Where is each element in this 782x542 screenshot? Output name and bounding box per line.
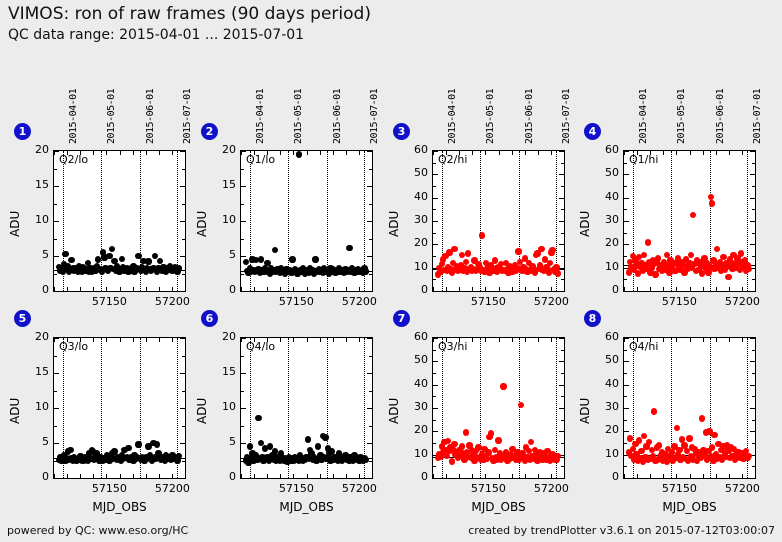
x-tick-mark — [512, 151, 513, 155]
y-tick-mark — [180, 408, 185, 409]
y-tick-mark — [54, 443, 59, 444]
y-tick-mark — [624, 233, 627, 234]
x-tick-mark — [650, 287, 651, 291]
x-axis-label: MJD_OBS — [432, 500, 565, 514]
footer-credit: powered by QC: www.eso.org/HC — [7, 524, 188, 537]
x-tick-mark — [446, 151, 447, 155]
data-point — [449, 458, 455, 464]
y-tick-label: 10 — [396, 447, 428, 460]
x-tick-mark — [106, 338, 107, 342]
data-point — [709, 200, 715, 206]
data-point — [463, 429, 469, 435]
y-tick-mark — [624, 256, 627, 257]
x-tick-mark — [320, 151, 321, 155]
x-tick-mark — [703, 287, 704, 291]
plot-panel-Q4-lo: Q4/lo — [240, 337, 373, 479]
y-tick-label: 10 — [587, 447, 619, 460]
x-tick-mark — [538, 338, 539, 342]
page-subtitle: QC data range: 2015-04-01 ... 2015-07-01 — [8, 27, 304, 43]
y-tick-mark — [752, 396, 755, 397]
y-tick-mark — [433, 350, 436, 351]
y-tick-mark — [750, 408, 755, 409]
date-tick-label: 2015-04-01 — [255, 89, 266, 144]
data-point — [641, 433, 647, 439]
y-axis-label: ADU — [195, 398, 209, 424]
y-tick-mark — [752, 279, 755, 280]
x-tick-mark — [525, 287, 526, 291]
page-header: VIMOS: ron of raw frames (90 days period… — [0, 0, 782, 52]
y-tick-mark — [433, 163, 436, 164]
x-tick-label: 57150 — [84, 295, 134, 308]
y-tick-mark — [182, 426, 185, 427]
x-tick-mark — [267, 474, 268, 478]
x-tick-mark — [280, 151, 281, 155]
date-tick-label: 2015-07-01 — [561, 89, 572, 144]
x-tick-mark — [676, 474, 677, 478]
x-tick-mark — [729, 338, 730, 342]
y-tick-mark — [241, 239, 244, 240]
y-tick-mark — [750, 385, 755, 386]
date-tick-label: 2015-06-01 — [715, 89, 726, 144]
data-point — [145, 258, 151, 264]
y-tick-mark — [367, 221, 372, 222]
y-tick-mark — [433, 244, 438, 245]
x-tick-mark — [293, 287, 294, 291]
x-tick-mark — [120, 474, 121, 478]
x-tick-mark — [106, 287, 107, 291]
x-tick-mark — [485, 287, 486, 291]
y-tick-mark — [54, 391, 57, 392]
x-tick-mark — [663, 474, 664, 478]
x-tick-label: 57200 — [334, 482, 384, 495]
y-tick-label: 0 — [396, 283, 428, 296]
y-tick-mark — [750, 431, 755, 432]
y-tick-mark — [752, 256, 755, 257]
y-tick-mark — [369, 356, 372, 357]
y-tick-mark — [367, 186, 372, 187]
y-tick-label: 20 — [587, 423, 619, 436]
data-point — [296, 151, 302, 157]
x-tick-mark — [133, 151, 134, 155]
x-tick-mark — [67, 287, 68, 291]
x-tick-mark — [146, 287, 147, 291]
data-point — [363, 457, 369, 463]
x-tick-mark — [637, 338, 638, 342]
y-tick-mark — [561, 466, 564, 467]
x-tick-mark — [512, 474, 513, 478]
x-tick-mark — [185, 151, 186, 155]
y-tick-mark — [54, 478, 59, 479]
x-tick-mark — [690, 474, 691, 478]
data-point — [725, 274, 731, 280]
y-tick-mark — [559, 174, 564, 175]
y-tick-label: 5 — [204, 435, 236, 448]
y-tick-mark — [561, 420, 564, 421]
y-tick-label: 20 — [204, 330, 236, 343]
x-tick-mark — [716, 474, 717, 478]
y-tick-label: 20 — [396, 423, 428, 436]
y-tick-mark — [241, 443, 246, 444]
data-point — [500, 383, 506, 389]
y-tick-mark — [624, 443, 627, 444]
x-tick-label: 57150 — [271, 482, 321, 495]
x-tick-label: 57200 — [717, 295, 767, 308]
x-tick-label: 57150 — [654, 295, 704, 308]
plot-grid: 12015-04-012015-05-012015-06-012015-07-0… — [0, 52, 782, 520]
x-tick-mark — [346, 474, 347, 478]
x-tick-mark — [359, 151, 360, 155]
y-tick-mark — [624, 361, 629, 362]
y-tick-mark — [752, 209, 755, 210]
x-tick-mark — [525, 338, 526, 342]
panel-badge-5: 5 — [14, 310, 31, 327]
data-point — [272, 247, 278, 253]
x-tick-mark — [637, 151, 638, 155]
y-tick-mark — [559, 291, 564, 292]
data-point — [645, 239, 651, 245]
x-axis-label: MJD_OBS — [623, 500, 756, 514]
y-tick-mark — [433, 431, 438, 432]
y-tick-mark — [54, 204, 57, 205]
date-tick-label: 2015-06-01 — [332, 89, 343, 144]
y-tick-label: 50 — [396, 166, 428, 179]
y-tick-mark — [241, 356, 244, 357]
y-tick-mark — [624, 431, 629, 432]
panel-badge-6: 6 — [201, 310, 218, 327]
y-tick-mark — [624, 163, 627, 164]
y-tick-mark — [54, 408, 59, 409]
panel-badge-8: 8 — [584, 310, 601, 327]
y-tick-mark — [559, 361, 564, 362]
y-tick-mark — [750, 174, 755, 175]
y-tick-mark — [433, 478, 438, 479]
date-tick-label: 2015-06-01 — [145, 89, 156, 144]
y-tick-mark — [752, 443, 755, 444]
data-point — [492, 257, 498, 263]
x-tick-label: 57150 — [271, 295, 321, 308]
y-tick-mark — [559, 338, 564, 339]
plot-panel-Q2-lo: Q2/lo — [53, 150, 186, 292]
data-point — [154, 441, 160, 447]
y-tick-mark — [752, 233, 755, 234]
date-tick-label: 2015-07-01 — [369, 89, 380, 144]
x-tick-mark — [359, 474, 360, 478]
data-point — [518, 402, 524, 408]
y-tick-mark — [624, 291, 629, 292]
x-tick-mark — [254, 287, 255, 291]
y-tick-mark — [54, 338, 59, 339]
x-tick-mark — [538, 287, 539, 291]
y-tick-mark — [54, 256, 59, 257]
y-tick-mark — [561, 186, 564, 187]
x-tick-mark — [729, 287, 730, 291]
plot-panel-Q3-hi: Q3/hi — [432, 337, 565, 479]
x-tick-mark — [293, 338, 294, 342]
x-tick-mark — [359, 338, 360, 342]
y-tick-mark — [180, 338, 185, 339]
y-tick-mark — [561, 163, 564, 164]
panel-badge-4: 4 — [584, 123, 601, 140]
y-tick-mark — [369, 426, 372, 427]
y-tick-mark — [367, 408, 372, 409]
x-tick-mark — [564, 474, 565, 478]
y-tick-label: 40 — [396, 190, 428, 203]
x-tick-mark — [159, 338, 160, 342]
data-point — [451, 246, 457, 252]
x-tick-mark — [755, 474, 756, 478]
data-point — [555, 453, 561, 459]
y-tick-label: 15 — [204, 178, 236, 191]
y-tick-mark — [180, 151, 185, 152]
data-point — [255, 415, 261, 421]
x-tick-mark — [333, 338, 334, 342]
y-tick-mark — [367, 373, 372, 374]
x-tick-mark — [650, 338, 651, 342]
x-tick-label: 57200 — [147, 295, 197, 308]
y-tick-mark — [561, 350, 564, 351]
y-tick-mark — [180, 443, 185, 444]
data-point — [746, 266, 752, 272]
x-tick-mark — [663, 151, 664, 155]
y-tick-mark — [433, 361, 438, 362]
y-axis-label: ADU — [195, 211, 209, 237]
y-tick-mark — [624, 198, 629, 199]
x-tick-mark — [472, 474, 473, 478]
y-tick-label: 50 — [587, 166, 619, 179]
x-tick-mark — [742, 151, 743, 155]
data-point — [555, 270, 561, 276]
y-tick-label: 40 — [587, 190, 619, 203]
x-tick-label: 57200 — [526, 482, 576, 495]
y-tick-mark — [624, 420, 627, 421]
x-tick-mark — [67, 474, 68, 478]
y-tick-mark — [367, 256, 372, 257]
x-tick-mark — [293, 151, 294, 155]
y-tick-mark — [750, 338, 755, 339]
data-point — [690, 212, 696, 218]
y-tick-mark — [241, 151, 246, 152]
x-tick-mark — [663, 287, 664, 291]
x-tick-mark — [120, 338, 121, 342]
y-tick-label: 20 — [17, 330, 49, 343]
x-tick-mark — [172, 151, 173, 155]
y-tick-mark — [241, 221, 246, 222]
date-tick-label: 2015-05-01 — [106, 89, 117, 144]
y-tick-mark — [182, 274, 185, 275]
y-tick-mark — [182, 391, 185, 392]
y-tick-mark — [559, 268, 564, 269]
y-tick-mark — [750, 291, 755, 292]
x-tick-mark — [146, 151, 147, 155]
x-tick-mark — [333, 151, 334, 155]
y-tick-mark — [180, 221, 185, 222]
x-tick-mark — [564, 287, 565, 291]
x-tick-mark — [446, 338, 447, 342]
x-tick-mark — [551, 338, 552, 342]
y-tick-mark — [750, 221, 755, 222]
data-point — [119, 256, 125, 262]
x-tick-mark — [80, 338, 81, 342]
y-tick-label: 0 — [204, 470, 236, 483]
y-tick-mark — [241, 186, 246, 187]
y-tick-mark — [433, 198, 438, 199]
x-tick-mark — [267, 287, 268, 291]
x-tick-mark — [525, 474, 526, 478]
x-tick-mark — [346, 151, 347, 155]
x-tick-mark — [690, 151, 691, 155]
plot-panel-Q1-lo: Q1/lo — [240, 150, 373, 292]
x-tick-label: 57200 — [334, 295, 384, 308]
y-tick-label: 15 — [17, 178, 49, 191]
date-tick-label: 2015-05-01 — [485, 89, 496, 144]
x-tick-mark — [472, 287, 473, 291]
y-tick-label: 20 — [396, 236, 428, 249]
y-axis-label: ADU — [387, 211, 401, 237]
x-tick-mark — [512, 338, 513, 342]
data-point — [495, 437, 501, 443]
y-tick-mark — [559, 198, 564, 199]
y-tick-mark — [54, 291, 59, 292]
y-tick-mark — [624, 151, 629, 152]
y-tick-mark — [241, 426, 244, 427]
x-tick-mark — [293, 474, 294, 478]
y-tick-mark — [433, 291, 438, 292]
data-point — [312, 256, 318, 262]
y-tick-mark — [561, 209, 564, 210]
y-tick-mark — [433, 396, 436, 397]
y-tick-mark — [182, 169, 185, 170]
date-tick-label: 2015-05-01 — [676, 89, 687, 144]
y-tick-label: 0 — [587, 470, 619, 483]
x-tick-mark — [359, 287, 360, 291]
y-tick-mark — [750, 244, 755, 245]
y-tick-mark — [54, 186, 59, 187]
y-axis-label: ADU — [578, 211, 592, 237]
x-tick-mark — [703, 474, 704, 478]
y-tick-mark — [752, 163, 755, 164]
x-tick-mark — [133, 338, 134, 342]
x-tick-mark — [120, 151, 121, 155]
date-tick-label: 2015-05-01 — [293, 89, 304, 144]
x-tick-mark — [267, 151, 268, 155]
y-tick-label: 10 — [587, 260, 619, 273]
data-point — [363, 268, 369, 274]
x-tick-mark — [485, 474, 486, 478]
x-tick-label: 57150 — [654, 482, 704, 495]
x-tick-mark — [185, 474, 186, 478]
y-tick-mark — [369, 239, 372, 240]
y-tick-mark — [182, 356, 185, 357]
x-tick-mark — [80, 151, 81, 155]
x-tick-mark — [333, 474, 334, 478]
data-point — [479, 232, 485, 238]
y-tick-mark — [624, 350, 627, 351]
x-tick-mark — [254, 474, 255, 478]
y-tick-label: 0 — [396, 470, 428, 483]
x-tick-mark — [185, 287, 186, 291]
y-tick-mark — [752, 420, 755, 421]
data-point — [714, 246, 720, 252]
data-point — [538, 246, 544, 252]
y-tick-mark — [54, 151, 59, 152]
x-tick-mark — [133, 287, 134, 291]
y-tick-mark — [624, 186, 627, 187]
x-tick-mark — [446, 474, 447, 478]
x-tick-mark — [93, 338, 94, 342]
y-tick-mark — [624, 174, 629, 175]
x-tick-mark — [372, 338, 373, 342]
page-title: VIMOS: ron of raw frames (90 days period… — [8, 4, 371, 24]
plot-panel-Q3-lo: Q3/lo — [53, 337, 186, 479]
x-tick-mark — [499, 151, 500, 155]
x-tick-mark — [499, 338, 500, 342]
y-tick-mark — [180, 478, 185, 479]
y-tick-mark — [624, 478, 629, 479]
y-tick-mark — [433, 443, 436, 444]
x-tick-mark — [755, 287, 756, 291]
data-point — [656, 442, 662, 448]
panel-badge-1: 1 — [14, 123, 31, 140]
y-tick-mark — [367, 443, 372, 444]
x-tick-mark — [472, 338, 473, 342]
y-tick-mark — [54, 221, 59, 222]
panel-badge-3: 3 — [393, 123, 410, 140]
y-tick-mark — [367, 291, 372, 292]
x-tick-mark — [307, 474, 308, 478]
x-tick-mark — [80, 287, 81, 291]
x-tick-mark — [372, 474, 373, 478]
y-tick-mark — [559, 151, 564, 152]
y-tick-mark — [367, 338, 372, 339]
plot-panel-Q4-hi: Q4/hi — [623, 337, 756, 479]
x-tick-mark — [676, 338, 677, 342]
y-tick-mark — [180, 256, 185, 257]
y-tick-mark — [180, 291, 185, 292]
y-tick-mark — [54, 274, 57, 275]
y-tick-mark — [561, 373, 564, 374]
x-tick-mark — [499, 474, 500, 478]
y-tick-mark — [369, 391, 372, 392]
x-tick-mark — [485, 338, 486, 342]
y-tick-mark — [433, 466, 436, 467]
x-tick-mark — [551, 474, 552, 478]
data-point — [699, 415, 705, 421]
data-point — [646, 439, 652, 445]
y-tick-mark — [433, 385, 438, 386]
y-tick-mark — [559, 408, 564, 409]
data-point — [688, 252, 694, 258]
x-tick-mark — [307, 151, 308, 155]
y-tick-label: 0 — [204, 283, 236, 296]
y-tick-mark — [241, 408, 246, 409]
y-tick-mark — [750, 361, 755, 362]
page-footer: powered by QC: www.eso.org/HC created by… — [0, 520, 782, 542]
y-tick-mark — [433, 151, 438, 152]
x-tick-mark — [472, 151, 473, 155]
y-axis-label: ADU — [8, 211, 22, 237]
data-point — [651, 408, 657, 414]
y-tick-label: 60 — [396, 330, 428, 343]
y-tick-mark — [624, 279, 627, 280]
y-tick-mark — [241, 373, 246, 374]
y-tick-mark — [624, 396, 627, 397]
data-point — [711, 432, 717, 438]
y-tick-label: 40 — [396, 377, 428, 390]
x-tick-mark — [67, 338, 68, 342]
panel-badge-7: 7 — [393, 310, 410, 327]
data-point — [135, 441, 141, 447]
x-tick-label: 57200 — [717, 482, 767, 495]
